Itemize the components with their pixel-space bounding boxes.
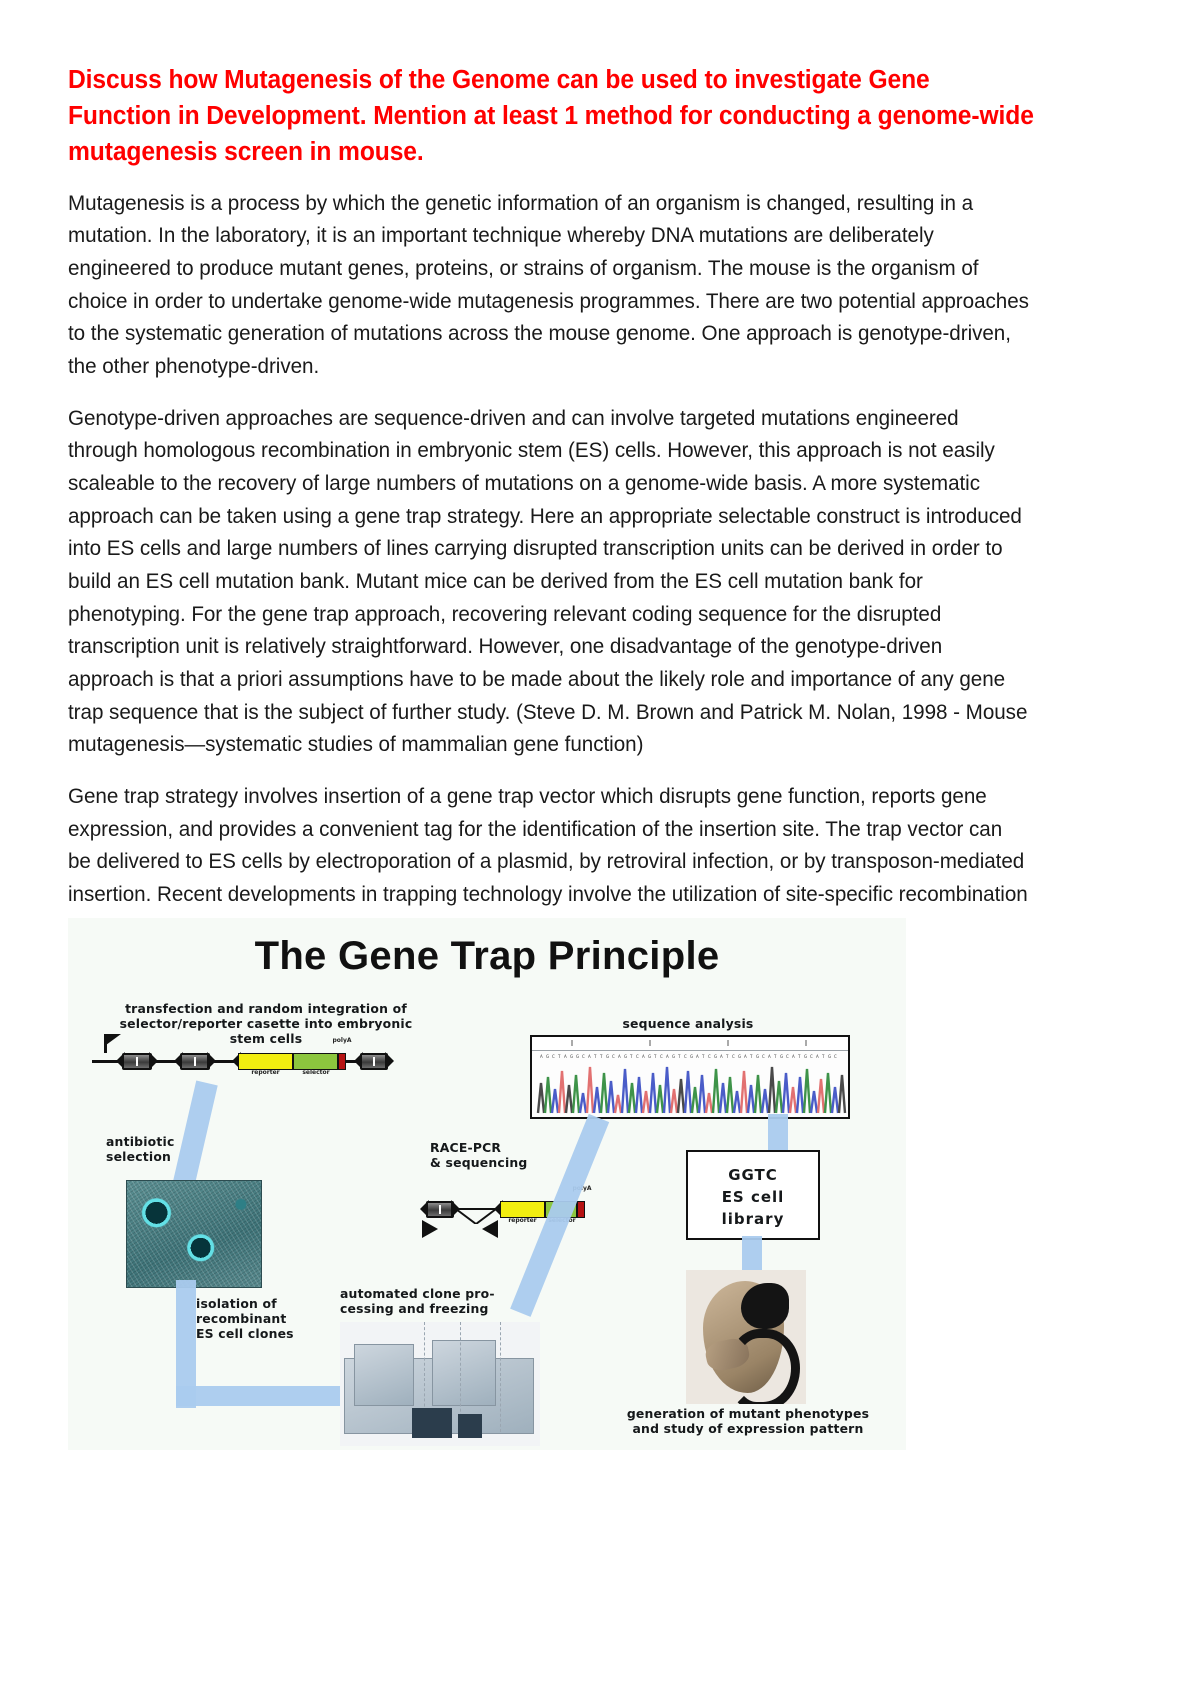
svg-text:A: A (696, 1054, 699, 1059)
svg-text:T: T (653, 1054, 657, 1059)
mutant-embryo-photo (686, 1270, 806, 1404)
svg-text:C: C (684, 1054, 687, 1059)
svg-text:C: C (762, 1054, 765, 1059)
forward-primer-icon (422, 1220, 438, 1238)
svg-text:A: A (564, 1054, 567, 1059)
flow-arrow-sequencing-to-library (768, 1114, 788, 1152)
selector-segment (293, 1053, 338, 1070)
svg-text:G: G (714, 1054, 717, 1059)
svg-text:G: G (804, 1054, 807, 1059)
svg-text:G: G (828, 1054, 831, 1059)
svg-text:A: A (720, 1054, 723, 1059)
label-automated-processing: automated clone pro- cessing and freezin… (340, 1286, 530, 1316)
gene-trap-figure: The Gene Trap Principle transfection and… (68, 918, 906, 1450)
svg-text:T: T (821, 1054, 825, 1059)
label-transfection: transfection and random integration of s… (86, 1001, 446, 1046)
reverse-primer-icon (482, 1220, 498, 1238)
reporter-caption-race: reporter (500, 1217, 545, 1224)
svg-text:T: T (797, 1054, 801, 1059)
svg-text:T: T (701, 1054, 705, 1059)
svg-text:G: G (780, 1054, 783, 1059)
sequence-chromatogram: AGC TAG GCA TTG CAG TCA GTC AGT CGA TCG … (530, 1035, 850, 1119)
svg-text:C: C (732, 1054, 735, 1059)
label-antibiotic-selection: antibiotic selection (106, 1134, 276, 1164)
es-cell-colony-photo (126, 1180, 262, 1288)
svg-text:A: A (816, 1054, 819, 1059)
svg-text:G: G (690, 1054, 693, 1059)
polya-caption: polyA (324, 1037, 360, 1044)
reporter-caption: reporter (238, 1069, 293, 1076)
svg-text:C: C (552, 1054, 555, 1059)
svg-text:A: A (744, 1054, 747, 1059)
svg-text:G: G (756, 1054, 759, 1059)
chromatogram-trace: AGC TAG GCA TTG CAG TCA GTC AGT CGA TCG … (532, 1037, 848, 1117)
figure-title: The Gene Trap Principle (68, 934, 906, 979)
svg-text:T: T (773, 1054, 777, 1059)
svg-text:G: G (570, 1054, 573, 1059)
svg-text:C: C (636, 1054, 639, 1059)
svg-text:G: G (648, 1054, 651, 1059)
svg-text:C: C (660, 1054, 663, 1059)
page-title: Discuss how Mutagenesis of the Genome ca… (68, 62, 1035, 171)
svg-text:T: T (677, 1054, 681, 1059)
gene-trap-construct-top: reporter selector polyA (92, 1046, 392, 1076)
svg-text:T: T (599, 1054, 603, 1059)
svg-text:A: A (642, 1054, 645, 1059)
svg-text:C: C (708, 1054, 711, 1059)
ggtc-library-box: GGTC ES cell library (686, 1150, 820, 1240)
clone-processing-machine (340, 1322, 540, 1446)
svg-text:A: A (540, 1054, 543, 1059)
svg-text:A: A (666, 1054, 669, 1059)
label-isolation: isolation of recombinant ES cell clones (196, 1296, 356, 1341)
svg-text:A: A (588, 1054, 591, 1059)
svg-text:G: G (624, 1054, 627, 1059)
svg-text:C: C (612, 1054, 615, 1059)
label-generation-phenotypes: generation of mutant phenotypes and stud… (598, 1406, 898, 1436)
flow-arrow-isolation-to-automation (176, 1386, 356, 1406)
paragraph-1: Mutagenesis is a process by which the ge… (68, 187, 1030, 383)
svg-text:T: T (593, 1054, 597, 1059)
label-ggtc-library: GGTC ES cell library (688, 1165, 818, 1230)
svg-text:A: A (618, 1054, 621, 1059)
svg-text:T: T (725, 1054, 729, 1059)
selector-caption: selector (291, 1069, 341, 1076)
document-page: Discuss how Mutagenesis of the Genome ca… (0, 0, 1200, 1698)
svg-text:A: A (792, 1054, 795, 1059)
svg-text:G: G (546, 1054, 549, 1059)
svg-text:T: T (557, 1054, 561, 1059)
svg-text:T: T (629, 1054, 633, 1059)
polya-segment (338, 1053, 346, 1070)
svg-text:G: G (576, 1054, 579, 1059)
svg-text:C: C (810, 1054, 813, 1059)
svg-text:C: C (582, 1054, 585, 1059)
svg-text:C: C (786, 1054, 789, 1059)
svg-text:A: A (768, 1054, 771, 1059)
svg-text:G: G (738, 1054, 741, 1059)
svg-text:G: G (606, 1054, 609, 1059)
svg-text:G: G (672, 1054, 675, 1059)
paragraph-2: Genotype-driven approaches are sequence-… (68, 402, 1030, 761)
label-sequence-analysis: sequence analysis (538, 1016, 838, 1031)
svg-text:C: C (834, 1054, 837, 1059)
svg-text:T: T (749, 1054, 753, 1059)
reporter-segment (238, 1053, 293, 1070)
